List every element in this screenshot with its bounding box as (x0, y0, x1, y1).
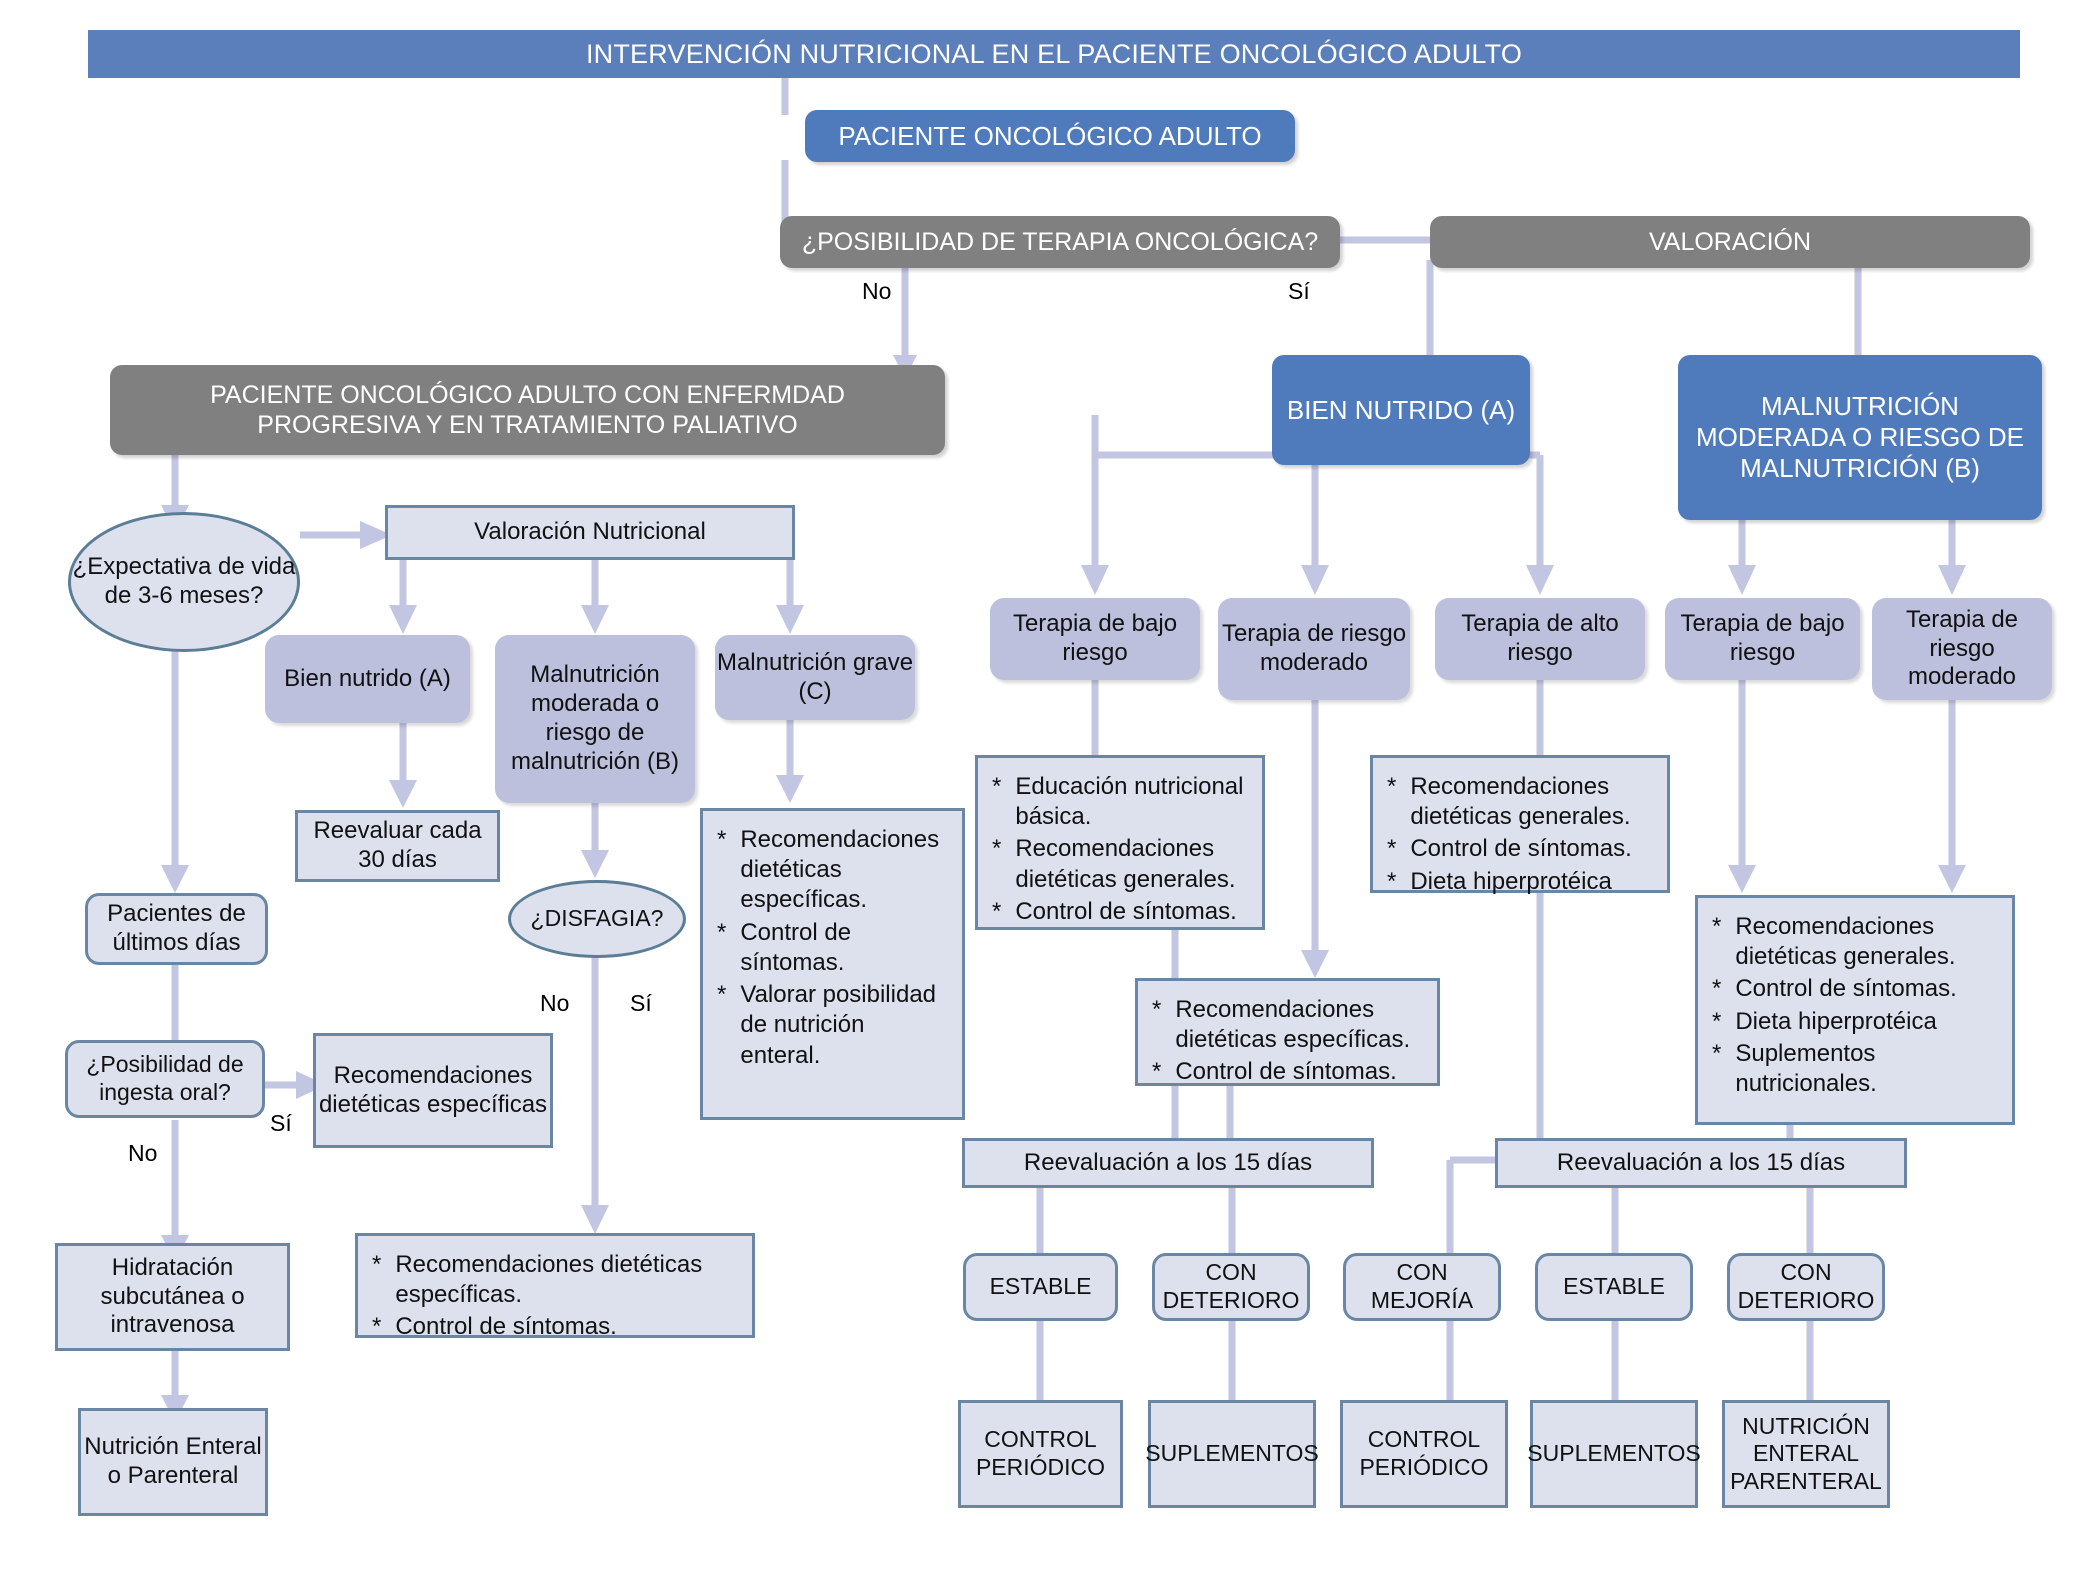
node-pacientes-ultimos-dias[interactable]: Pacientes de últimos días (85, 893, 268, 965)
node-malnutricion-b-label: Malnutrición moderada o riesgo de malnut… (495, 661, 695, 776)
edge-label-therapy-no: No (862, 278, 891, 305)
bullet-marker: * (1712, 1039, 1721, 1099)
node-terapia-bajo-riesgo-b[interactable]: Terapia de bajo riesgo (1665, 598, 1860, 680)
node-control-periodico-1[interactable]: CONTROL PERIÓDICO (958, 1400, 1123, 1508)
bullets-disfagia-no-list: *Recomendaciones dietéticas específicas.… (358, 1236, 752, 1357)
bullets-riesgo-b-list: *Recomendaciones dietéticas generales. *… (1698, 898, 2012, 1113)
node-terapia-riesgo-moderado-a-label: Terapia de riesgo moderado (1218, 620, 1410, 678)
node-hidratacion-label: Hidratación subcutánea o intravenosa (58, 1254, 287, 1340)
node-malnutricion-b[interactable]: Malnutrición moderada o riesgo de malnut… (495, 635, 695, 803)
bullets-alto-riesgo-a-list: *Recomendaciones dietéticas generales. *… (1373, 758, 1667, 911)
node-reevaluar-30-label: Reevaluar cada 30 días (298, 817, 497, 875)
node-recomendaciones-especificas-label: Recomendaciones dietéticas específicas (316, 1062, 550, 1120)
node-palliative[interactable]: PACIENTE ONCOLÓGICO ADULTO CON ENFERMDAD… (110, 365, 945, 455)
bullet-marker: * (717, 918, 726, 978)
node-suplementos-1[interactable]: SUPLEMENTOS (1148, 1400, 1316, 1508)
bullet-marker: * (372, 1312, 381, 1342)
bullet-marker: * (1387, 867, 1396, 897)
node-con-deterioro-1-label: CON DETERIORO (1155, 1259, 1307, 1314)
node-question-therapy-label: ¿POSIBILIDAD DE TERAPIA ONCOLÓGICA? (802, 227, 1318, 257)
node-suplementos-1-label: SUPLEMENTOS (1145, 1440, 1318, 1468)
edge-label-disfagia-si: Sí (630, 990, 652, 1017)
node-disfagia[interactable]: ¿DISFAGIA? (508, 880, 686, 958)
node-estable-1[interactable]: ESTABLE (963, 1253, 1118, 1321)
bullets-grave-c[interactable]: *Recomendaciones dietéticas específicas.… (700, 808, 965, 1120)
node-terapia-alto-riesgo-a[interactable]: Terapia de alto riesgo (1435, 598, 1645, 680)
node-posibilidad-ingesta-label: ¿Posibilidad de ingesta oral? (68, 1051, 262, 1106)
node-recomendaciones-especificas[interactable]: Recomendaciones dietéticas específicas (313, 1033, 553, 1148)
node-nutricion-enteral-parenteral-right-label: NUTRICIÓN ENTERAL PARENTERAL (1725, 1413, 1887, 1496)
edge-label-disfagia-no: No (540, 990, 569, 1017)
page-title: INTERVENCIÓN NUTRICIONAL EN EL PACIENTE … (88, 30, 2020, 78)
node-bien-nutrido-a[interactable]: Bien nutrido (A) (265, 635, 470, 723)
node-question-therapy[interactable]: ¿POSIBILIDAD DE TERAPIA ONCOLÓGICA? (780, 216, 1340, 268)
bullet-marker: * (717, 825, 726, 916)
node-nutricion-enteral-parenteral-left-label: Nutrición Enteral o Parenteral (81, 1433, 265, 1491)
bullets-riesgo-b[interactable]: *Recomendaciones dietéticas generales. *… (1695, 895, 2015, 1125)
node-pacientes-ultimos-dias-label: Pacientes de últimos días (88, 900, 265, 958)
node-terapia-bajo-riesgo-a[interactable]: Terapia de bajo riesgo (990, 598, 1200, 680)
node-hidratacion[interactable]: Hidratación subcutánea o intravenosa (55, 1243, 290, 1351)
bullets-bajo-riesgo-a-list: *Educación nutricional básica. *Recomend… (978, 758, 1262, 941)
edge-label-ingesta-no: No (128, 1140, 157, 1167)
node-bien-nutrido[interactable]: BIEN NUTRIDO (A) (1272, 355, 1530, 465)
node-valoracion-nutricional[interactable]: Valoración Nutricional (385, 505, 795, 560)
node-con-mejoria[interactable]: CON MEJORÍA (1343, 1253, 1501, 1321)
bullets-grave-c-list: *Recomendaciones dietéticas específicas.… (703, 811, 962, 1085)
node-bien-nutrido-label: BIEN NUTRIDO (A) (1287, 395, 1515, 426)
node-con-deterioro-1[interactable]: CON DETERIORO (1152, 1253, 1310, 1321)
node-con-deterioro-2-label: CON DETERIORO (1730, 1259, 1882, 1314)
node-terapia-bajo-riesgo-a-label: Terapia de bajo riesgo (990, 610, 1200, 668)
edge-label-ingesta-si: Sí (270, 1110, 292, 1137)
bullets-alto-riesgo-a[interactable]: *Recomendaciones dietéticas generales. *… (1370, 755, 1670, 893)
node-estable-2-label: ESTABLE (1563, 1273, 1665, 1301)
node-malnutricion-moderada[interactable]: MALNUTRICIÓN MODERADA O RIESGO DE MALNUT… (1678, 355, 2042, 520)
node-valoracion-nutricional-label: Valoración Nutricional (474, 518, 706, 547)
bullet-marker: * (992, 772, 1001, 832)
node-valoracion-label: VALORACIÓN (1649, 227, 1811, 257)
node-reevaluacion-15-left-label: Reevaluación a los 15 días (1024, 1149, 1312, 1178)
node-control-periodico-2[interactable]: CONTROL PERIÓDICO (1340, 1400, 1508, 1508)
node-con-mejoria-label: CON MEJORÍA (1346, 1259, 1498, 1314)
node-terapia-riesgo-moderado-b[interactable]: Terapia de riesgo moderado (1872, 598, 2052, 700)
node-malnutricion-moderada-label: MALNUTRICIÓN MODERADA O RIESGO DE MALNUT… (1694, 391, 2026, 483)
node-valoracion[interactable]: VALORACIÓN (1430, 216, 2030, 268)
node-bien-nutrido-a-label: Bien nutrido (A) (284, 665, 451, 694)
node-suplementos-2[interactable]: SUPLEMENTOS (1530, 1400, 1698, 1508)
node-con-deterioro-2[interactable]: CON DETERIORO (1727, 1253, 1885, 1321)
bullet-marker: * (372, 1250, 381, 1310)
bullet-marker: * (1152, 995, 1161, 1055)
node-disfagia-label: ¿DISFAGIA? (531, 905, 664, 933)
bullet-marker: * (1712, 1007, 1721, 1037)
node-root-label: PACIENTE ONCOLÓGICO ADULTO (838, 121, 1261, 152)
bullet-marker: * (992, 834, 1001, 894)
node-reevaluacion-15-right[interactable]: Reevaluación a los 15 días (1495, 1138, 1907, 1188)
node-expectativa[interactable]: ¿Expectativa de vida de 3-6 meses? (68, 512, 300, 652)
node-nutricion-enteral-parenteral-right[interactable]: NUTRICIÓN ENTERAL PARENTERAL (1722, 1400, 1890, 1508)
node-estable-1-label: ESTABLE (990, 1273, 1092, 1301)
node-posibilidad-ingesta[interactable]: ¿Posibilidad de ingesta oral? (65, 1040, 265, 1118)
node-suplementos-2-label: SUPLEMENTOS (1527, 1440, 1700, 1468)
flowchart-canvas: INTERVENCIÓN NUTRICIONAL EN EL PACIENTE … (0, 0, 2100, 1575)
node-reevaluacion-15-right-label: Reevaluación a los 15 días (1557, 1149, 1845, 1178)
bullet-marker: * (1152, 1057, 1161, 1087)
bullets-bajo-riesgo-a[interactable]: *Educación nutricional básica. *Recomend… (975, 755, 1265, 930)
page-title-text: INTERVENCIÓN NUTRICIONAL EN EL PACIENTE … (586, 39, 1522, 70)
edge-label-therapy-si: Sí (1288, 278, 1310, 305)
node-malnutricion-c-label: Malnutrición grave (C) (715, 649, 915, 707)
bullet-marker: * (1712, 974, 1721, 1004)
node-control-periodico-2-label: CONTROL PERIÓDICO (1343, 1426, 1505, 1481)
node-nutricion-enteral-parenteral-left[interactable]: Nutrición Enteral o Parenteral (78, 1408, 268, 1516)
node-terapia-riesgo-moderado-a[interactable]: Terapia de riesgo moderado (1218, 598, 1410, 700)
node-root[interactable]: PACIENTE ONCOLÓGICO ADULTO (805, 110, 1295, 162)
node-terapia-alto-riesgo-a-label: Terapia de alto riesgo (1435, 610, 1645, 668)
node-palliative-label: PACIENTE ONCOLÓGICO ADULTO CON ENFERMDAD… (132, 380, 923, 440)
node-reevaluacion-15-left[interactable]: Reevaluación a los 15 días (962, 1138, 1374, 1188)
node-terapia-bajo-riesgo-b-label: Terapia de bajo riesgo (1665, 610, 1860, 668)
bullet-marker: * (717, 980, 726, 1071)
node-expectativa-label: ¿Expectativa de vida de 3-6 meses? (71, 553, 297, 611)
bullet-marker: * (992, 897, 1001, 927)
node-reevaluar-30[interactable]: Reevaluar cada 30 días (295, 810, 500, 882)
node-malnutricion-c[interactable]: Malnutrición grave (C) (715, 635, 915, 720)
bullet-marker: * (1712, 912, 1721, 972)
bullet-marker: * (1387, 772, 1396, 832)
bullet-marker: * (1387, 834, 1396, 864)
node-control-periodico-1-label: CONTROL PERIÓDICO (961, 1426, 1120, 1481)
bullets-riesgo-moderado-a[interactable]: *Recomendaciones dietéticas específicas.… (1135, 978, 1440, 1086)
bullets-riesgo-moderado-a-list: *Recomendaciones dietéticas específicas.… (1138, 981, 1437, 1102)
node-terapia-riesgo-moderado-b-label: Terapia de riesgo moderado (1872, 606, 2052, 692)
bullets-disfagia-no[interactable]: *Recomendaciones dietéticas específicas.… (355, 1233, 755, 1338)
node-estable-2[interactable]: ESTABLE (1535, 1253, 1693, 1321)
